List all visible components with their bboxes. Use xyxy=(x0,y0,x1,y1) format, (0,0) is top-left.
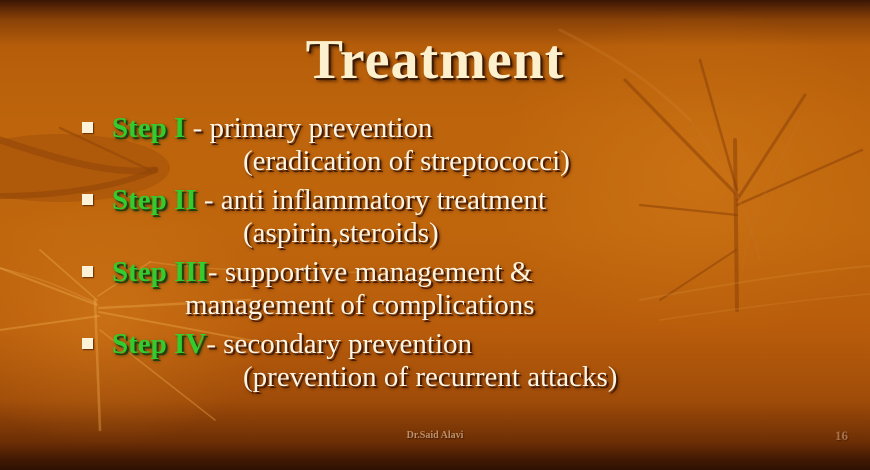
step-subtext: (prevention of recurrent attacks) xyxy=(0,361,870,394)
step-subtext: (aspirin,steroids) xyxy=(0,217,870,250)
step-line-primary: Step II - anti inflammatory treatment xyxy=(0,184,870,217)
step-description: - anti inflammatory treatment xyxy=(197,184,547,217)
treatment-steps-list: Step I - primary prevention (eradication… xyxy=(0,112,870,400)
step-label: Step III xyxy=(112,256,208,289)
step-label: Step I xyxy=(112,112,193,145)
list-item: Step II - anti inflammatory treatment (a… xyxy=(0,184,870,250)
list-item: Step I - primary prevention (eradication… xyxy=(0,112,870,178)
step-line-primary: Step I - primary prevention xyxy=(0,112,870,145)
step-description: - supportive management & xyxy=(208,256,533,289)
square-bullet-icon xyxy=(82,122,93,133)
list-item: Step III - supportive management & manag… xyxy=(0,256,870,322)
step-description: - primary prevention xyxy=(193,112,433,145)
presentation-slide: Treatment Step I - primary prevention (e… xyxy=(0,0,870,470)
slide-title: Treatment xyxy=(0,28,870,92)
step-subtext: (eradication of streptococci) xyxy=(0,145,870,178)
step-subtext: management of complications xyxy=(0,289,870,322)
slide-page-number: 16 xyxy=(835,428,848,444)
square-bullet-icon xyxy=(82,266,93,277)
slide-footer-author: Dr.Said Alavi xyxy=(0,430,870,441)
square-bullet-icon xyxy=(82,194,93,205)
step-line-primary: Step IV - secondary prevention xyxy=(0,328,870,361)
step-label: Step II xyxy=(112,184,197,217)
step-line-primary: Step III - supportive management & xyxy=(0,256,870,289)
square-bullet-icon xyxy=(82,338,93,349)
step-label: Step IV xyxy=(112,328,206,361)
step-description: - secondary prevention xyxy=(206,328,472,361)
list-item: Step IV - secondary prevention (preventi… xyxy=(0,328,870,394)
